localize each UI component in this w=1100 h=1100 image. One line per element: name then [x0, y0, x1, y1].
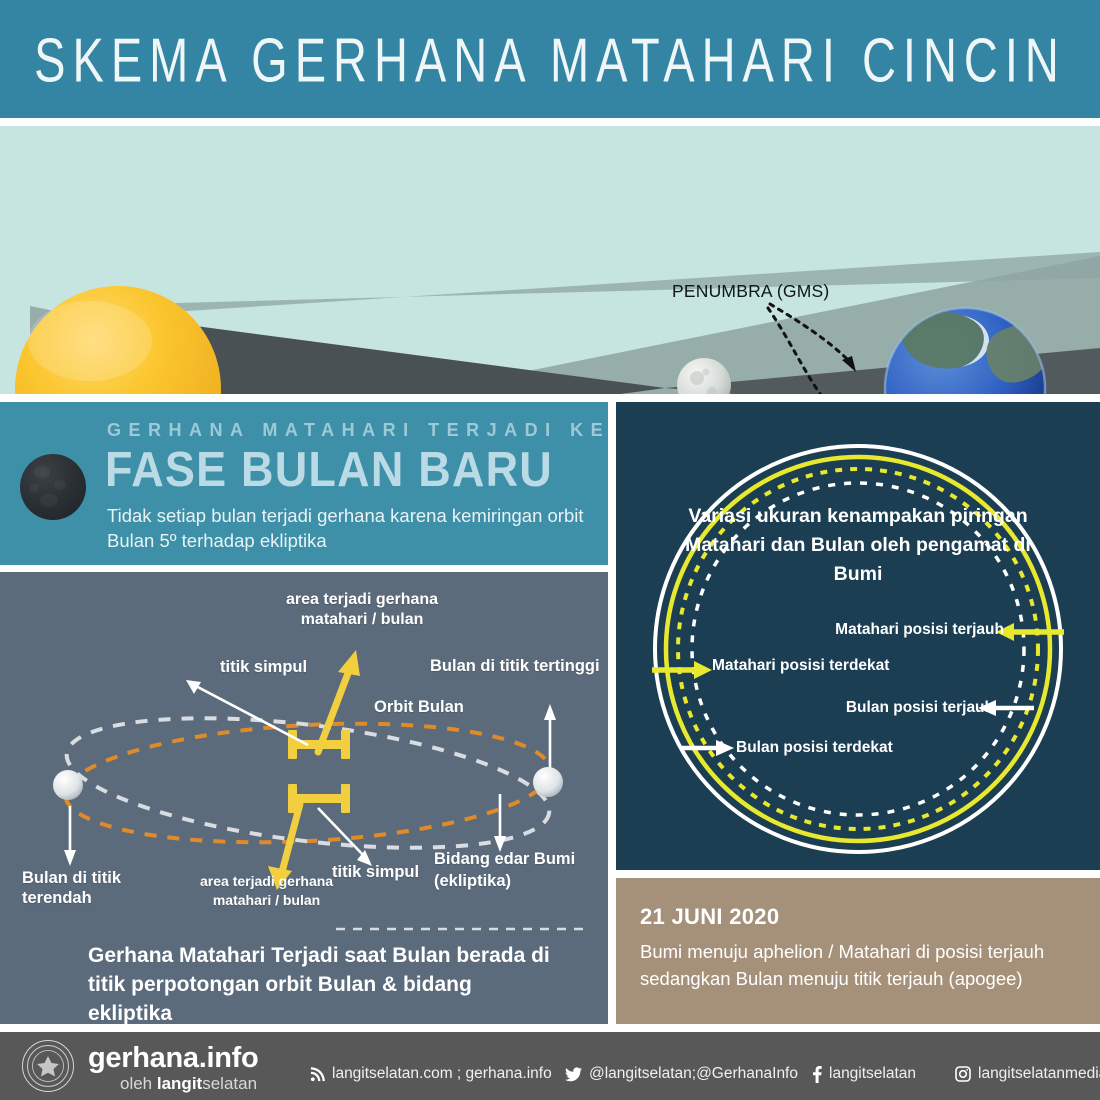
moon-orbit-ellipse [60, 696, 557, 870]
label-sun-farthest: Matahari posisi terjauh [835, 621, 1004, 639]
moon-lowest-icon [53, 770, 83, 800]
date-description: Bumi menuju aphelion / Matahari di posis… [640, 938, 1078, 992]
label-orbit-bulan: Orbit Bulan [374, 697, 464, 717]
footer-instagram-text: langitselatanmedia [978, 1065, 1100, 1083]
twitter-icon [565, 1067, 582, 1082]
footer-facebook-text: langitselatan [829, 1065, 916, 1083]
eclipse-schema-panel: PENUMBRA (GMS) UMBRA ANTUMBRA (GMC) [0, 126, 1100, 394]
page-title: SKEMA GERHANA MATAHARI CINCIN [34, 23, 1066, 96]
footer-twitter[interactable]: @langitselatan;@GerhanaInfo [565, 1065, 798, 1083]
label-moon-lowest: Bulan di titik terendah [22, 868, 121, 908]
footer-instagram[interactable]: langitselatanmedia [955, 1065, 1100, 1083]
footer-facebook[interactable]: langitselatan [812, 1065, 916, 1083]
label-moon-highest: Bulan di titik tertinggi [430, 656, 600, 676]
ecliptic-ellipse [62, 712, 553, 853]
header-bar: SKEMA GERHANA MATAHARI CINCIN [0, 0, 1100, 118]
label-eclipse-area-bottom: area terjadi gerhana matahari / bulan [200, 872, 333, 910]
brand-name: gerhana.info [88, 1042, 258, 1075]
leader-node-top [192, 684, 308, 745]
eclipse-area-arrow-bottom [282, 804, 300, 872]
label-penumbra: PENUMBRA (GMS) [672, 281, 829, 302]
new-moon-phase-panel: GERHANA MATAHARI TERJADI KETIKA FASE BUL… [0, 402, 608, 565]
date-info-panel: 21 JUNI 2020 Bumi menuju aphelion / Mata… [616, 878, 1100, 1024]
rss-icon [310, 1067, 325, 1082]
fase-kicker: GERHANA MATAHARI TERJADI KETIKA [107, 420, 608, 441]
new-moon-icon [20, 454, 86, 520]
footer-bar: gerhana.info oleh langitselatan langitse… [0, 1032, 1100, 1100]
moon-orbit-panel: area terjadi gerhana matahari / bulan ti… [0, 572, 608, 1024]
orbit-caption: Gerhana Matahari Terjadi saat Bulan bera… [88, 941, 558, 1024]
fase-subtitle: Tidak setiap bulan terjadi gerhana karen… [107, 503, 599, 553]
facebook-icon [812, 1066, 822, 1083]
fase-title: FASE BULAN BARU [105, 441, 553, 498]
apparent-size-panel: Variasi ukuran kenampakan piringan Matah… [616, 402, 1100, 870]
moon-highest-icon [533, 767, 563, 797]
leader-node-bottom [318, 808, 364, 856]
instagram-icon [955, 1066, 971, 1082]
label-node-top: titik simpul [220, 657, 307, 677]
footer-website-text: langitselatan.com ; gerhana.info [332, 1065, 552, 1083]
eclipse-schema-diagram [0, 126, 1100, 394]
date-title: 21 JUNI 2020 [640, 904, 779, 930]
brand-byline: oleh langitselatan [120, 1074, 257, 1094]
label-moon-farthest: Bulan posisi terjauh [846, 699, 994, 717]
langitselatan-logo-icon [22, 1040, 74, 1092]
label-eclipse-area-top: area terjadi gerhana matahari / bulan [286, 590, 438, 629]
label-sun-nearest: Matahari posisi terdekat [712, 657, 889, 675]
label-ecliptic-plane: Bidang edar Bumi (ekliptika) [434, 849, 575, 893]
ring-panel-title: Variasi ukuran kenampakan piringan Matah… [676, 502, 1040, 589]
footer-twitter-text: @langitselatan;@GerhanaInfo [589, 1065, 798, 1083]
label-node-bottom: titik simpul [332, 862, 419, 882]
label-moon-nearest: Bulan posisi terdekat [736, 739, 893, 757]
footer-website[interactable]: langitselatan.com ; gerhana.info [310, 1065, 552, 1083]
